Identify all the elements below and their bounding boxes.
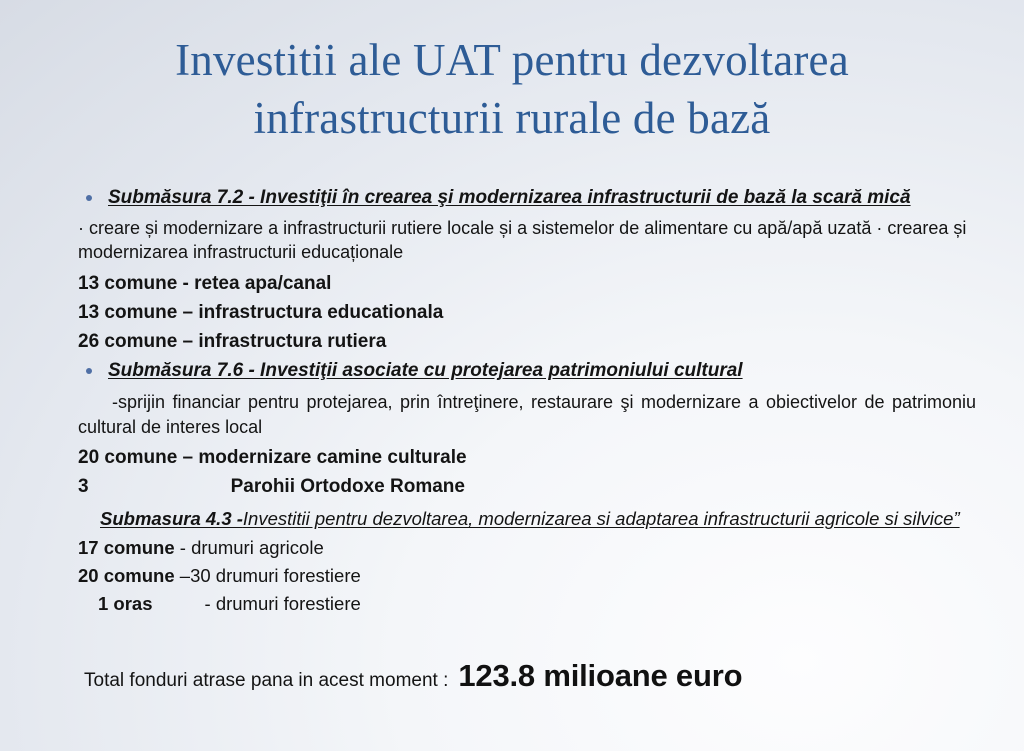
parohii-label: Parohii Ortodoxe Romane: [231, 476, 465, 497]
slide-title: Investitii ale UAT pentru dezvoltarea in…: [60, 32, 964, 147]
bullet-item-submasura-7-2: Submăsura 7.2 - Investiţii în crearea şi…: [78, 186, 978, 210]
stat-parohii-ortodoxe: 3Parohii Ortodoxe Romane: [78, 473, 978, 502]
submasura-7-2-heading-text: Submăsura 7.2 - Investiţii în crearea şi…: [108, 187, 911, 208]
stat-apa-canal: 13 comune - retea apa/canal: [78, 270, 978, 299]
drumuri-agricole-count: 17 comune: [78, 537, 175, 558]
submasura-4-3-bold-text: Submasura 4.3 -: [100, 508, 243, 529]
total-funds-label: Total fonduri atrase pana in acest momen…: [84, 670, 448, 692]
submasura-4-3-heading: Submasura 4.3 -Investitii pentru dezvolt…: [78, 507, 978, 531]
submasura-7-2-description: · creare și modernizare a infrastructuri…: [78, 217, 978, 265]
submasura-7-6-heading-text: Submăsura 7.6 - Investiţii asociate cu p…: [108, 360, 743, 381]
stat-infrastructura-rutiera: 26 comune – infrastructura rutiera: [78, 328, 978, 357]
oras-label: - drumuri forestiere: [205, 593, 361, 614]
stat-camine-culturale: 20 comune – modernizare camine culturale: [78, 444, 978, 473]
slide-canvas: Investitii ale UAT pentru dezvoltarea in…: [0, 0, 1024, 751]
slide-body: Submăsura 7.2 - Investiţii în crearea şi…: [78, 186, 978, 617]
drumuri-forestiere-label: –30 drumuri forestiere: [175, 565, 361, 586]
stat-drumuri-forestiere: 20 comune –30 drumuri forestiere: [78, 562, 978, 590]
total-funds-value: 123.8 milioane euro: [458, 658, 742, 694]
stat-oras-drumuri-forestiere: 1 oras- drumuri forestiere: [78, 590, 978, 618]
drumuri-forestiere-count: 20 comune: [78, 565, 175, 586]
submasura-7-6-description: -sprijin financiar pentru protejarea, pr…: [78, 390, 976, 439]
total-funds-row: Total fonduri atrase pana in acest momen…: [84, 658, 742, 694]
submasura-4-3-rest-text: Investitii pentru dezvoltarea, moderniza…: [243, 508, 960, 529]
bullet-dot-icon: [86, 195, 92, 201]
parohii-count: 3: [78, 476, 89, 497]
title-line-2: infrastructurii rurale de bază: [60, 90, 964, 148]
oras-count: 1 oras: [98, 593, 153, 614]
title-line-1: Investitii ale UAT pentru dezvoltarea: [60, 32, 964, 90]
bullet-dot-icon: [86, 368, 92, 374]
submasura-7-6-description-text: -sprijin financiar pentru protejarea, pr…: [78, 392, 976, 436]
stat-infrastructura-educationala: 13 comune – infrastructura educationala: [78, 299, 978, 328]
stat-drumuri-agricole: 17 comune - drumuri agricole: [78, 534, 978, 562]
bullet-item-submasura-7-6: Submăsura 7.6 - Investiţii asociate cu p…: [78, 359, 978, 383]
drumuri-agricole-label: - drumuri agricole: [175, 537, 324, 558]
